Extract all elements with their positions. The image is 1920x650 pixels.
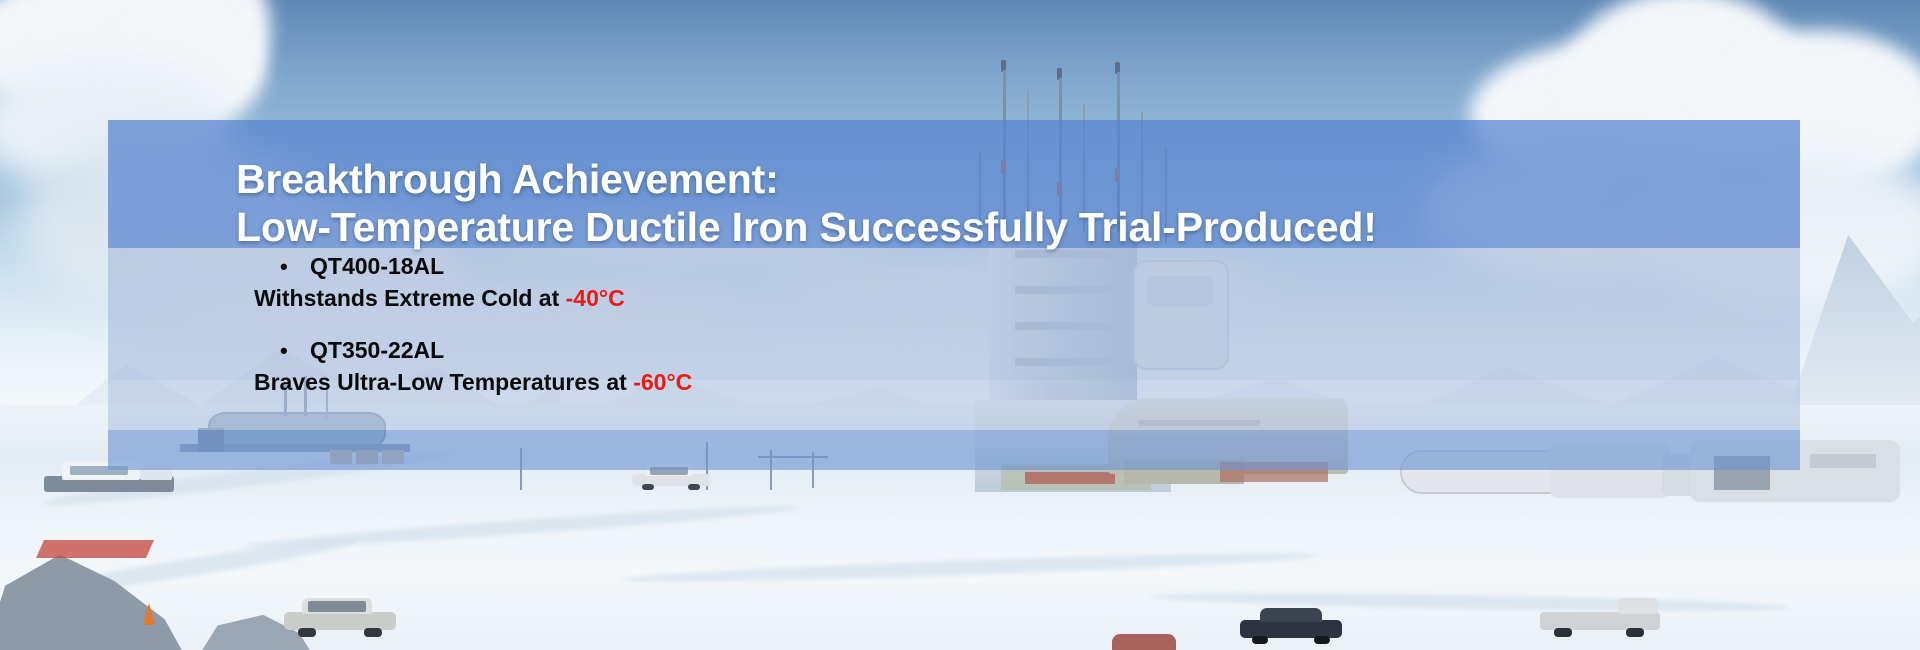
headline: Breakthrough Achievement: Low-Temperatur… (236, 155, 1796, 252)
vehicle-suv-foreground (284, 596, 396, 638)
headline-line-1: Breakthrough Achievement: (236, 155, 1796, 203)
vehicle-sedan-east (1240, 606, 1342, 646)
vehicle-truck-east (1540, 596, 1660, 640)
headline-line-2: Low-Temperature Ductile Iron Successfull… (236, 203, 1796, 251)
bullet-row-2: • QT350-22AL (280, 338, 1480, 362)
snow-marker-panel (36, 540, 154, 558)
bullet-row-1: • QT400-18AL (280, 254, 1480, 278)
overlay-band-footer (108, 430, 1800, 470)
red-equipment-foreground (1112, 634, 1176, 650)
feature-list: • QT400-18AL Withstands Extreme Cold at … (280, 254, 1480, 395)
list-item: • QT350-22AL Braves Ultra-Low Temperatur… (280, 338, 1480, 394)
text-overlay-panel: Breakthrough Achievement: Low-Temperatur… (108, 120, 1800, 470)
bullet-dot-icon: • (280, 339, 310, 362)
temperature-value-2: -60°C (633, 369, 692, 395)
grade-description-1: Withstands Extreme Cold at -40°C (254, 286, 1480, 310)
list-item: • QT400-18AL Withstands Extreme Cold at … (280, 254, 1480, 310)
grade-description-text-1: Withstands Extreme Cold at (254, 285, 566, 311)
bullet-dot-icon: • (280, 255, 310, 278)
grade-code-2: QT350-22AL (310, 338, 444, 362)
grade-description-2: Braves Ultra-Low Temperatures at -60°C (254, 370, 1480, 394)
grade-description-text-2: Braves Ultra-Low Temperatures at (254, 369, 633, 395)
grade-code-1: QT400-18AL (310, 254, 444, 278)
promo-banner: Breakthrough Achievement: Low-Temperatur… (0, 0, 1920, 650)
temperature-value-1: -40°C (566, 285, 625, 311)
